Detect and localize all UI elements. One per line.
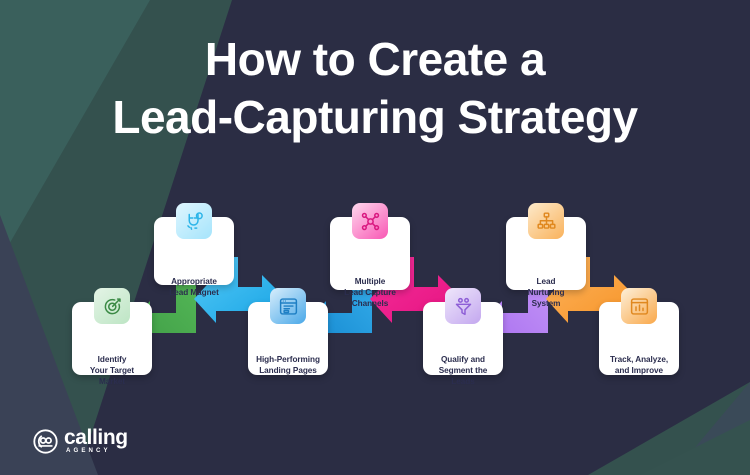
flow-step-label-1: Identify Your Target Market <box>76 354 148 388</box>
flow-step-card-2[interactable]: Appropriate Lead Magnet <box>154 217 234 285</box>
bar-chart-report-icon <box>621 288 657 324</box>
flow-step-label-7: Track, Analyze, and Improve <box>603 354 675 376</box>
page-title-line-2: Lead-Capturing Strategy <box>0 88 750 146</box>
hierarchy-chart-icon <box>528 203 564 239</box>
funnel-people-icon <box>445 288 481 324</box>
logo-wordmark: calling AGENCY <box>64 428 128 455</box>
flow-step-card-3[interactable]: High-Performing Landing Pages <box>248 302 328 375</box>
logo-word: calling <box>64 428 128 448</box>
flow-step-label-2: Appropriate Lead Magnet <box>158 276 230 298</box>
flow-step-card-1[interactable]: Identify Your Target Market <box>72 302 152 375</box>
network-nodes-icon <box>352 203 388 239</box>
flow-step-card-6[interactable]: Lead Nurturing System <box>506 217 586 290</box>
flow-step-label-4: Multiple Lead Capture Channels <box>334 276 406 310</box>
flow-step-label-6: Lead Nurturing System <box>510 276 582 310</box>
page-title-line-1: How to Create a <box>0 30 750 88</box>
flow-step-label-3: High-Performing Landing Pages <box>252 354 324 376</box>
browser-window-icon <box>270 288 306 324</box>
process-flow-diagram: Identify Your Target Market Appropriate … <box>0 195 750 390</box>
calling-agency-circle-logo-icon <box>32 428 59 455</box>
target-arrow-icon <box>94 288 130 324</box>
magnet-icon <box>176 203 212 239</box>
flow-step-card-4[interactable]: Multiple Lead Capture Channels <box>330 217 410 290</box>
flow-step-card-5[interactable]: Qualify and Segment the Leads <box>423 302 503 375</box>
flow-step-label-5: Qualify and Segment the Leads <box>427 354 499 388</box>
flow-step-card-7[interactable]: Track, Analyze, and Improve <box>599 302 679 375</box>
brand-logo[interactable]: calling AGENCY <box>32 428 128 455</box>
page-title: How to Create a Lead-Capturing Strategy <box>0 30 750 146</box>
